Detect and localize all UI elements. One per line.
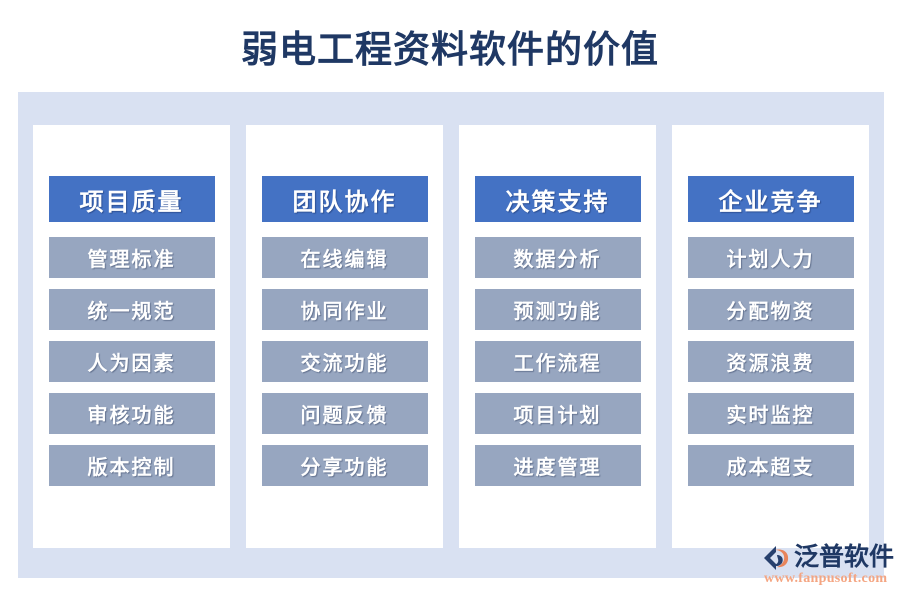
list-item: 资源浪费 <box>688 341 854 382</box>
list-item: 协同作业 <box>262 289 428 330</box>
column-items-2: 在线编辑 协同作业 交流功能 问题反馈 分享功能 <box>262 237 428 486</box>
fanpu-swoosh-logo-icon <box>762 544 792 572</box>
list-item: 进度管理 <box>475 445 641 486</box>
list-item: 预测功能 <box>475 289 641 330</box>
list-item: 工作流程 <box>475 341 641 382</box>
list-item: 版本控制 <box>49 445 215 486</box>
list-item: 人为因素 <box>49 341 215 382</box>
column-header-3: 决策支持 <box>475 176 641 222</box>
list-item: 交流功能 <box>262 341 428 382</box>
column-items-3: 数据分析 预测功能 工作流程 项目计划 进度管理 <box>475 237 641 486</box>
list-item: 项目计划 <box>475 393 641 434</box>
list-item: 计划人力 <box>688 237 854 278</box>
list-item: 统一规范 <box>49 289 215 330</box>
column-header-2: 团队协作 <box>262 176 428 222</box>
list-item: 实时监控 <box>688 393 854 434</box>
logo-row: 泛普软件 <box>762 543 894 573</box>
logo-name: 泛普软件 <box>794 544 894 572</box>
page-title: 弱电工程资料软件的价值 <box>0 28 900 74</box>
logo-url: www.fanpusoft.com <box>764 571 887 587</box>
columns-container: 项目质量 管理标准 统一规范 人为因素 审核功能 版本控制 团队协作 在线编辑 … <box>33 125 869 548</box>
list-item: 问题反馈 <box>262 393 428 434</box>
list-item: 数据分析 <box>475 237 641 278</box>
column-card-1: 项目质量 管理标准 统一规范 人为因素 审核功能 版本控制 <box>33 125 230 548</box>
list-item: 分享功能 <box>262 445 428 486</box>
column-card-3: 决策支持 数据分析 预测功能 工作流程 项目计划 进度管理 <box>459 125 656 548</box>
list-item: 成本超支 <box>688 445 854 486</box>
list-item: 分配物资 <box>688 289 854 330</box>
column-items-4: 计划人力 分配物资 资源浪费 实时监控 成本超支 <box>688 237 854 486</box>
column-card-2: 团队协作 在线编辑 协同作业 交流功能 问题反馈 分享功能 <box>246 125 443 548</box>
list-item: 管理标准 <box>49 237 215 278</box>
column-header-1: 项目质量 <box>49 176 215 222</box>
column-items-1: 管理标准 统一规范 人为因素 审核功能 版本控制 <box>49 237 215 486</box>
brand-logo: 泛普软件 www.fanpusoft.com <box>762 543 892 591</box>
list-item: 审核功能 <box>49 393 215 434</box>
column-header-4: 企业竞争 <box>688 176 854 222</box>
column-card-4: 企业竞争 计划人力 分配物资 资源浪费 实时监控 成本超支 <box>672 125 869 548</box>
list-item: 在线编辑 <box>262 237 428 278</box>
